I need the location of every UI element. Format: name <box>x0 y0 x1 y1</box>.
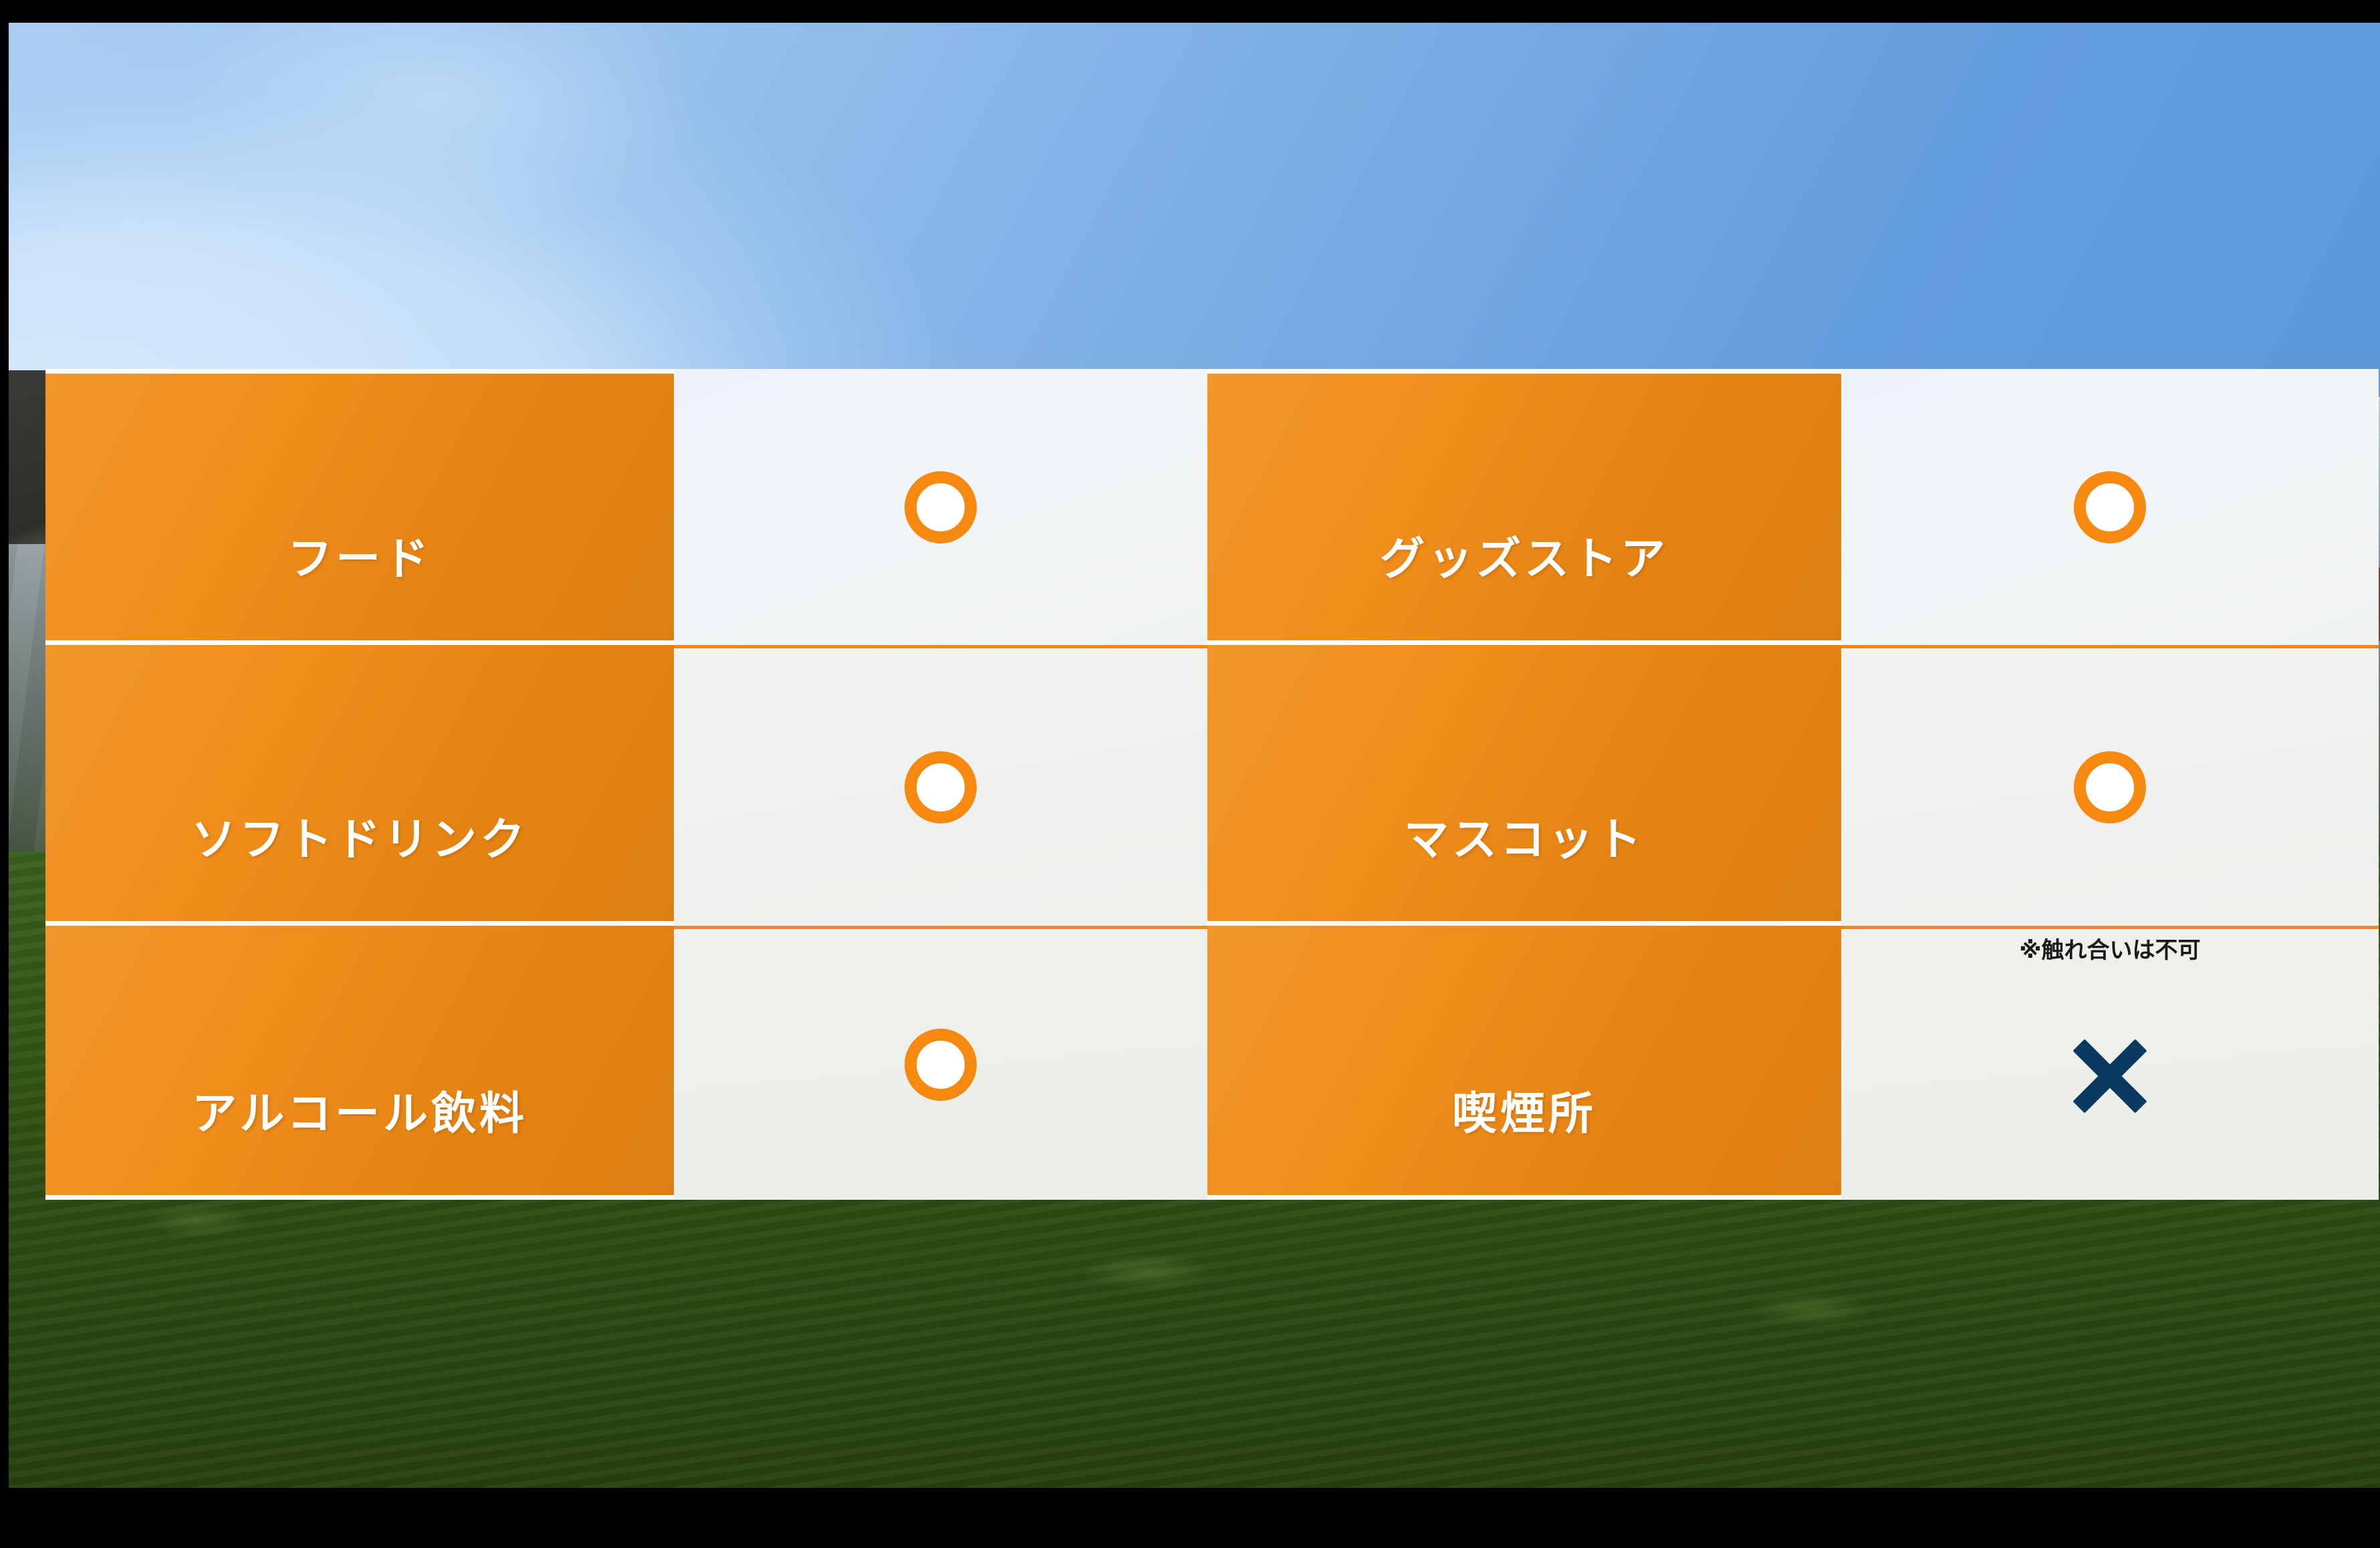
table-cell-mark-mascot <box>1841 645 2379 926</box>
circle-outline-icon <box>905 1029 977 1101</box>
facility-label: マスコット <box>1404 817 1645 921</box>
facility-label: グッズストア <box>1380 537 1669 640</box>
table-cell-mark-goods-store <box>1841 369 2379 645</box>
mark-wrapper <box>674 929 1207 1200</box>
facility-label: フード <box>287 537 432 640</box>
facility-availability-table: フード グッズストア ソフトドリンク マスコット <box>45 369 2379 1200</box>
table-cell-label-mascot: マスコット <box>1207 645 1841 926</box>
circle-outline-icon <box>905 471 977 543</box>
table-cell-label-smoking-area: 喫煙所 <box>1207 926 1841 1200</box>
mark-wrapper <box>674 369 1207 645</box>
table-cell-mark-alcohol <box>674 926 1207 1200</box>
circle-outline-icon <box>905 751 977 823</box>
table-cell-mark-food <box>674 369 1207 645</box>
table-cell-label-food: フード <box>45 369 674 645</box>
facility-label: アルコール飲料 <box>192 1091 527 1195</box>
table-cell-label-goods-store: グッズストア <box>1207 369 1841 645</box>
table-cell-label-alcohol: アルコール飲料 <box>45 926 674 1200</box>
facility-label: ソフトドリンク <box>191 817 528 921</box>
mark-wrapper <box>1841 369 2379 645</box>
table-cell-label-soft-drink: ソフトドリンク <box>45 645 674 926</box>
photo-stage: フード グッズストア ソフトドリンク マスコット <box>9 23 2380 1488</box>
cross-mark-icon <box>2066 1032 2154 1120</box>
table-cell-mark-smoking-area: ※触れ合いは不可 <box>1841 926 2379 1200</box>
mark-wrapper <box>674 648 1207 926</box>
facility-label: 喫煙所 <box>1452 1091 1596 1195</box>
mark-wrapper: ※触れ合いは不可 <box>1841 929 2379 1200</box>
table-cell-mark-soft-drink <box>674 645 1207 926</box>
mark-wrapper <box>1841 648 2379 926</box>
circle-outline-icon <box>2074 751 2146 823</box>
circle-outline-icon <box>2074 471 2146 543</box>
mascot-contact-note: ※触れ合いは不可 <box>2019 932 2200 964</box>
